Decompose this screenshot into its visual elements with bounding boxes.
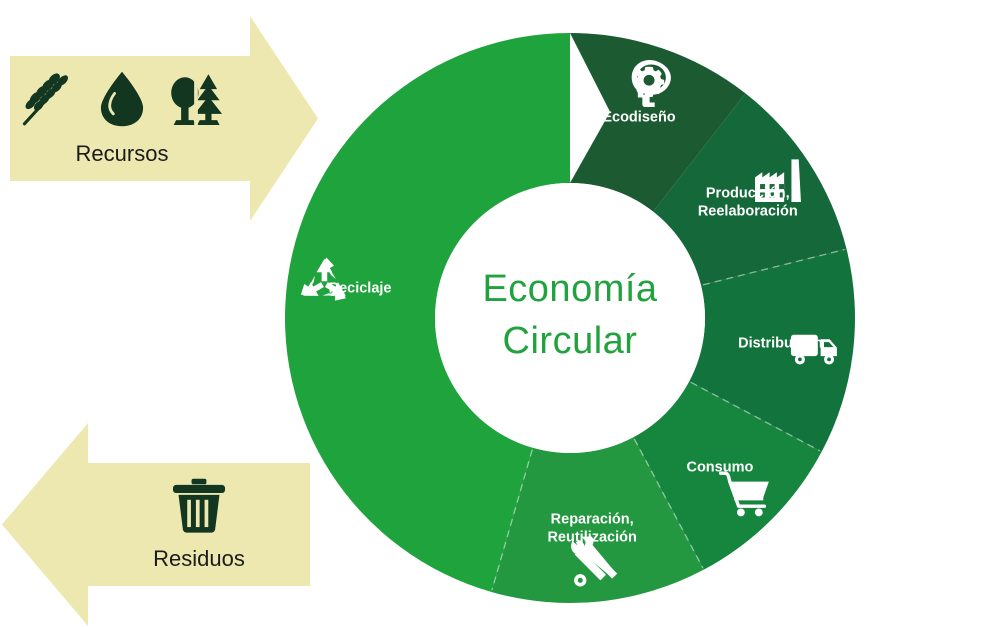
arrow-shape-recursos <box>10 16 318 221</box>
segment-label-distribucion: Distribución <box>738 336 823 352</box>
segment-label-reciclaje: Reciclaje <box>329 280 392 296</box>
arrow-residuos[interactable]: Residuos <box>2 423 310 626</box>
center-title-line1: Economía <box>482 268 657 310</box>
arrow-recursos[interactable]: Recursos <box>10 16 318 221</box>
segment-label-produccion: Reelaboración <box>698 203 798 219</box>
segment-label-reparacion: Reparación, <box>551 512 634 528</box>
flow-arrows: RecursosResiduos <box>2 16 318 626</box>
segment-label-reparacion: Reutilización <box>547 530 636 546</box>
segment-label-ecodiseno: Ecodiseño <box>602 109 675 125</box>
center-disc <box>435 183 705 453</box>
segment-label-produccion: Producción, <box>706 185 790 201</box>
segment-label-consumo: Consumo <box>686 460 753 476</box>
circular-economy-diagram: EcodiseñoProducción,ReelaboraciónDistrib… <box>0 0 1000 627</box>
center-title-line2: Circular <box>503 320 638 362</box>
arrow-label-residuos: Residuos <box>153 546 245 571</box>
arrow-label-recursos: Recursos <box>76 141 169 166</box>
diagram-canvas: EcodiseñoProducción,ReelaboraciónDistrib… <box>0 0 1000 627</box>
arrow-shape-residuos <box>2 423 310 626</box>
